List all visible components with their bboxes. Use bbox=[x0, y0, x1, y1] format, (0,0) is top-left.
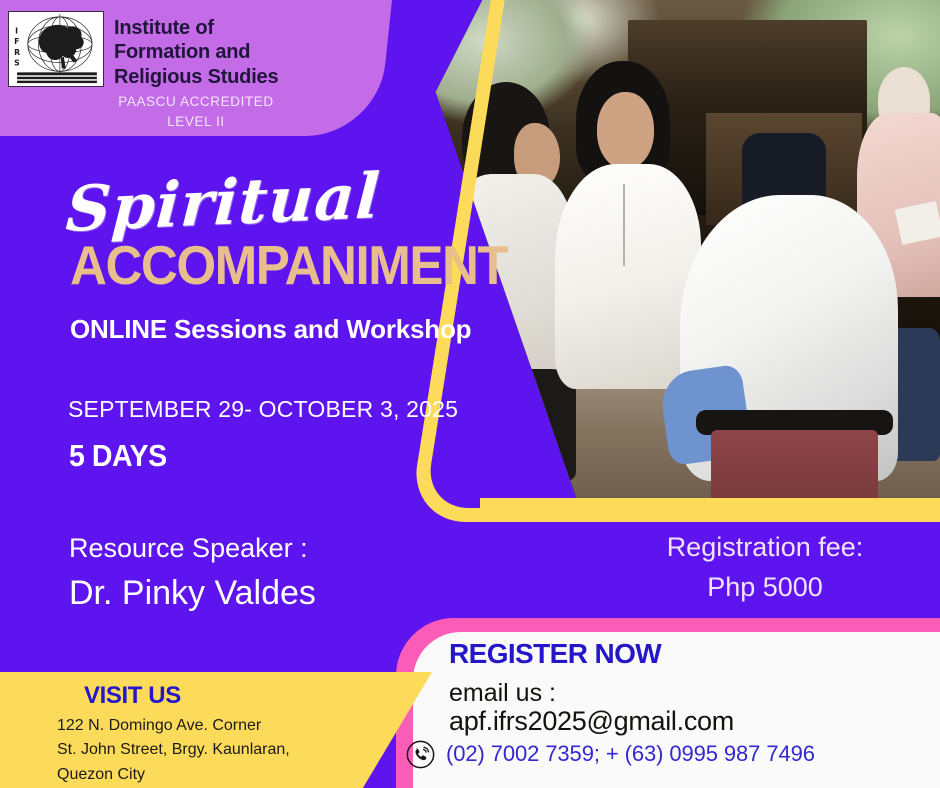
phone-numbers[interactable]: (02) 7002 7359; + (63) 0995 987 7496 bbox=[446, 741, 815, 767]
visit-us-heading: VISIT US bbox=[84, 682, 181, 710]
photo-yellow-bottom-bar bbox=[480, 498, 940, 512]
photo-person-center-habit bbox=[555, 164, 701, 389]
register-now-heading: REGISTER NOW bbox=[449, 638, 661, 670]
photo-person-left-skirt bbox=[451, 369, 576, 482]
visit-us-address: 122 N. Domingo Ave. Corner St. John Stre… bbox=[57, 714, 357, 787]
organization-name: Institute of Formation and Religious Stu… bbox=[114, 16, 364, 89]
globe-icon: I F R S bbox=[9, 12, 103, 86]
poster-root: I F R S Institute of Formation and Relig… bbox=[0, 0, 940, 788]
registration-fee: Registration fee: Php 5000 bbox=[600, 528, 930, 608]
page-title: ACCOMPANIMENT bbox=[70, 238, 507, 293]
svg-text:S: S bbox=[14, 59, 20, 68]
script-title: Spiritual bbox=[64, 159, 383, 246]
speaker-name: Dr. Pinky Valdes bbox=[69, 574, 316, 613]
header-content: I F R S Institute of Formation and Relig… bbox=[0, 0, 392, 136]
event-duration: 5 DAYS bbox=[69, 438, 167, 474]
accreditation-text: PAASCU ACCREDITED LEVEL II bbox=[0, 92, 392, 131]
speaker-label: Resource Speaker : bbox=[69, 533, 308, 564]
svg-text:R: R bbox=[14, 48, 20, 57]
phone-icon bbox=[406, 740, 435, 769]
event-dates: SEPTEMBER 29- OCTOBER 3, 2025 bbox=[68, 396, 458, 423]
photo-person-center-cross bbox=[623, 184, 625, 266]
photo-person-right-notebook bbox=[895, 201, 940, 245]
event-subtitle: ONLINE Sessions and Workshop bbox=[70, 314, 471, 345]
photo-person-center-face bbox=[597, 92, 654, 169]
email-label: email us : bbox=[449, 679, 556, 708]
svg-text:F: F bbox=[14, 37, 19, 46]
svg-text:I: I bbox=[15, 26, 18, 35]
email-address[interactable]: apf.ifrs2025@gmail.com bbox=[449, 706, 734, 737]
ifrs-logo: I F R S bbox=[8, 11, 104, 87]
